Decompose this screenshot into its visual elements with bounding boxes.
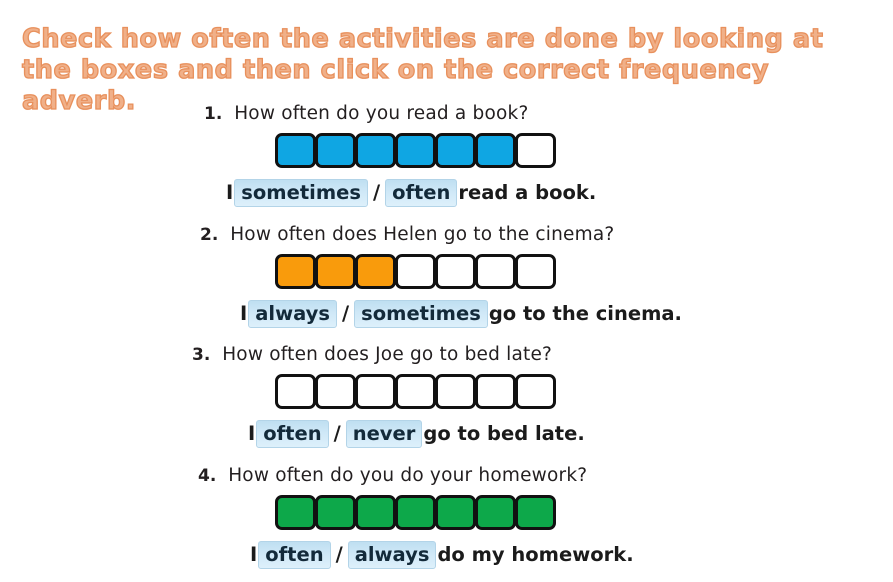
frequency-box[interactable] (315, 495, 356, 530)
frequency-box[interactable] (515, 133, 556, 168)
frequency-box[interactable] (395, 133, 436, 168)
answer-line-3: Ioften/nevergo to bed late. (0, 420, 893, 448)
question-number-1: 1. (204, 104, 222, 124)
question-block-1: 1. How often do you read a book? Isometi… (0, 103, 893, 207)
frequency-box[interactable] (515, 495, 556, 530)
frequency-box[interactable] (315, 133, 356, 168)
answer-tail-1: read a book. (458, 181, 596, 204)
answer-option-b-2[interactable]: sometimes (354, 300, 488, 328)
frequency-box[interactable] (475, 374, 516, 409)
frequency-box[interactable] (395, 374, 436, 409)
frequency-box[interactable] (475, 254, 516, 289)
answer-subject-4: I (250, 543, 257, 566)
question-number-4: 4. (198, 466, 216, 486)
question-line-4: 4. How often do you do your homework? (0, 465, 893, 486)
question-number-2: 2. (200, 225, 218, 245)
frequency-box[interactable] (315, 254, 356, 289)
frequency-box[interactable] (435, 133, 476, 168)
frequency-box[interactable] (515, 254, 556, 289)
frequency-boxes-3 (0, 374, 893, 409)
frequency-box[interactable] (275, 254, 316, 289)
answer-tail-2: go to the cinema. (489, 302, 682, 325)
frequency-box[interactable] (275, 495, 316, 530)
frequency-box[interactable] (515, 374, 556, 409)
question-block-2: 2. How often does Helen go to the cinema… (0, 224, 893, 328)
frequency-box[interactable] (475, 495, 516, 530)
frequency-box[interactable] (435, 495, 476, 530)
answer-subject-3: I (248, 422, 255, 445)
frequency-box[interactable] (355, 254, 396, 289)
answer-separator-4: / (332, 543, 347, 566)
frequency-box[interactable] (355, 133, 396, 168)
question-text-1: How often do you read a book? (234, 103, 528, 124)
frequency-box[interactable] (275, 374, 316, 409)
answer-option-b-1[interactable]: often (385, 179, 457, 207)
frequency-boxes-2 (0, 254, 893, 289)
question-line-2: 2. How often does Helen go to the cinema… (0, 224, 893, 245)
question-text-2: How often does Helen go to the cinema? (230, 224, 614, 245)
frequency-box[interactable] (475, 133, 516, 168)
frequency-box[interactable] (275, 133, 316, 168)
question-text-4: How often do you do your homework? (228, 465, 587, 486)
frequency-box[interactable] (435, 254, 476, 289)
answer-option-b-4[interactable]: always (348, 541, 437, 569)
answer-option-a-3[interactable]: often (256, 420, 328, 448)
frequency-box[interactable] (435, 374, 476, 409)
frequency-box[interactable] (315, 374, 356, 409)
question-number-3: 3. (192, 345, 210, 365)
frequency-box[interactable] (395, 495, 436, 530)
answer-subject-2: I (240, 302, 247, 325)
answer-option-b-3[interactable]: never (346, 420, 423, 448)
answer-option-a-4[interactable]: often (258, 541, 330, 569)
answer-separator-3: / (330, 422, 345, 445)
answer-line-4: Ioften/alwaysdo my homework. (0, 541, 893, 569)
frequency-boxes-1 (0, 133, 893, 168)
answer-subject-1: I (226, 181, 233, 204)
frequency-box[interactable] (355, 495, 396, 530)
frequency-box[interactable] (395, 254, 436, 289)
answer-tail-4: do my homework. (437, 543, 633, 566)
frequency-boxes-4 (0, 495, 893, 530)
answer-line-2: Ialways/sometimesgo to the cinema. (0, 300, 893, 328)
question-block-3: 3. How often does Joe go to bed late? Io… (0, 344, 893, 448)
frequency-box[interactable] (355, 374, 396, 409)
question-line-1: 1. How often do you read a book? (0, 103, 893, 124)
answer-option-a-1[interactable]: sometimes (234, 179, 368, 207)
question-text-3: How often does Joe go to bed late? (222, 344, 552, 365)
answer-separator-1: / (369, 181, 384, 204)
question-block-4: 4. How often do you do your homework? Io… (0, 465, 893, 569)
answer-line-1: Isometimes/oftenread a book. (0, 179, 893, 207)
question-line-3: 3. How often does Joe go to bed late? (0, 344, 893, 365)
answer-separator-2: / (338, 302, 353, 325)
answer-option-a-2[interactable]: always (248, 300, 337, 328)
answer-tail-3: go to bed late. (423, 422, 584, 445)
